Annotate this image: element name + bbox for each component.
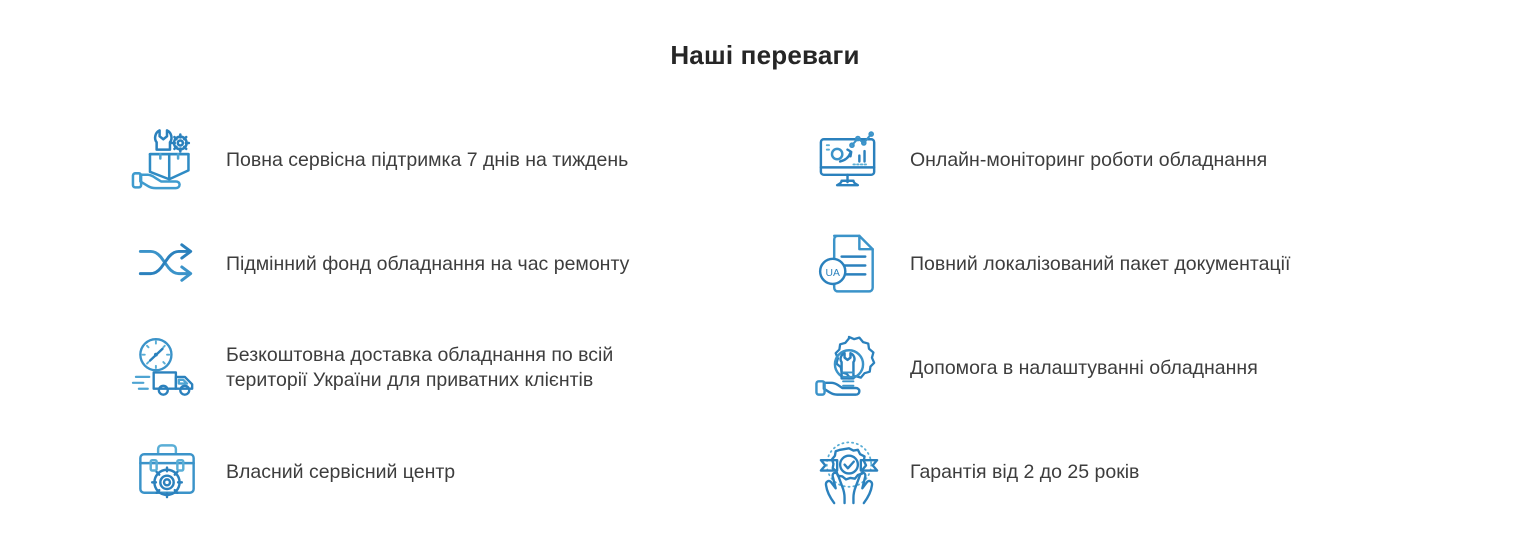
feature-item-warranty: Гарантія від 2 до 25 років: [810, 420, 1500, 524]
feature-label: Повна сервісна підтримка 7 днів на тижде…: [226, 148, 628, 173]
features-column-left: Повна сервісна підтримка 7 днів на тижде…: [128, 108, 818, 524]
feature-label: Підмінний фонд обладнання на час ремонту: [226, 252, 629, 277]
feature-label: Допомога в налаштуванні обладнання: [910, 356, 1258, 381]
feature-label: Гарантія від 2 до 25 років: [910, 460, 1139, 485]
hand-holding-wrench-in-gear-icon: [810, 329, 888, 407]
feature-item-free-delivery: Безкоштовна доставка обладнання по всій …: [128, 316, 818, 420]
feature-item-service-center: Власний сервісний центр: [128, 420, 818, 524]
feature-label: Власний сервісний центр: [226, 460, 455, 485]
ua-badge-text: UA: [826, 268, 840, 279]
feature-item-setup-help: Допомога в налаштуванні обладнання: [810, 316, 1500, 420]
feature-item-online-monitoring: Онлайн-моніторинг роботи обладнання: [810, 108, 1500, 212]
feature-item-service-support: Повна сервісна підтримка 7 днів на тижде…: [128, 108, 818, 212]
feature-label: Повний локалізований пакет документації: [910, 252, 1290, 277]
page-title: Наші переваги: [0, 40, 1530, 71]
features-column-right: Онлайн-моніторинг роботи обладнання UA П…: [810, 108, 1500, 524]
feature-item-localized-documentation: UA Повний локалізований пакет документац…: [810, 212, 1500, 316]
document-with-ua-badge-icon: UA: [810, 225, 888, 303]
toolbox-with-gear-icon: [128, 433, 206, 511]
feature-label: Безкоштовна доставка обладнання по всій …: [226, 343, 613, 393]
delivery-truck-with-clock-icon: [128, 329, 206, 407]
shuffle-arrows-icon: [128, 225, 206, 303]
advantages-section: Наші переваги: [0, 0, 1530, 542]
hand-holding-box-with-wrench-and-gear-icon: [128, 121, 206, 199]
feature-label: Онлайн-моніторинг роботи обладнання: [910, 148, 1267, 173]
monitor-with-analytics-chart-icon: [810, 121, 888, 199]
feature-item-replacement-fund: Підмінний фонд обладнання на час ремонту: [128, 212, 818, 316]
hands-holding-guarantee-seal-icon: [810, 433, 888, 511]
